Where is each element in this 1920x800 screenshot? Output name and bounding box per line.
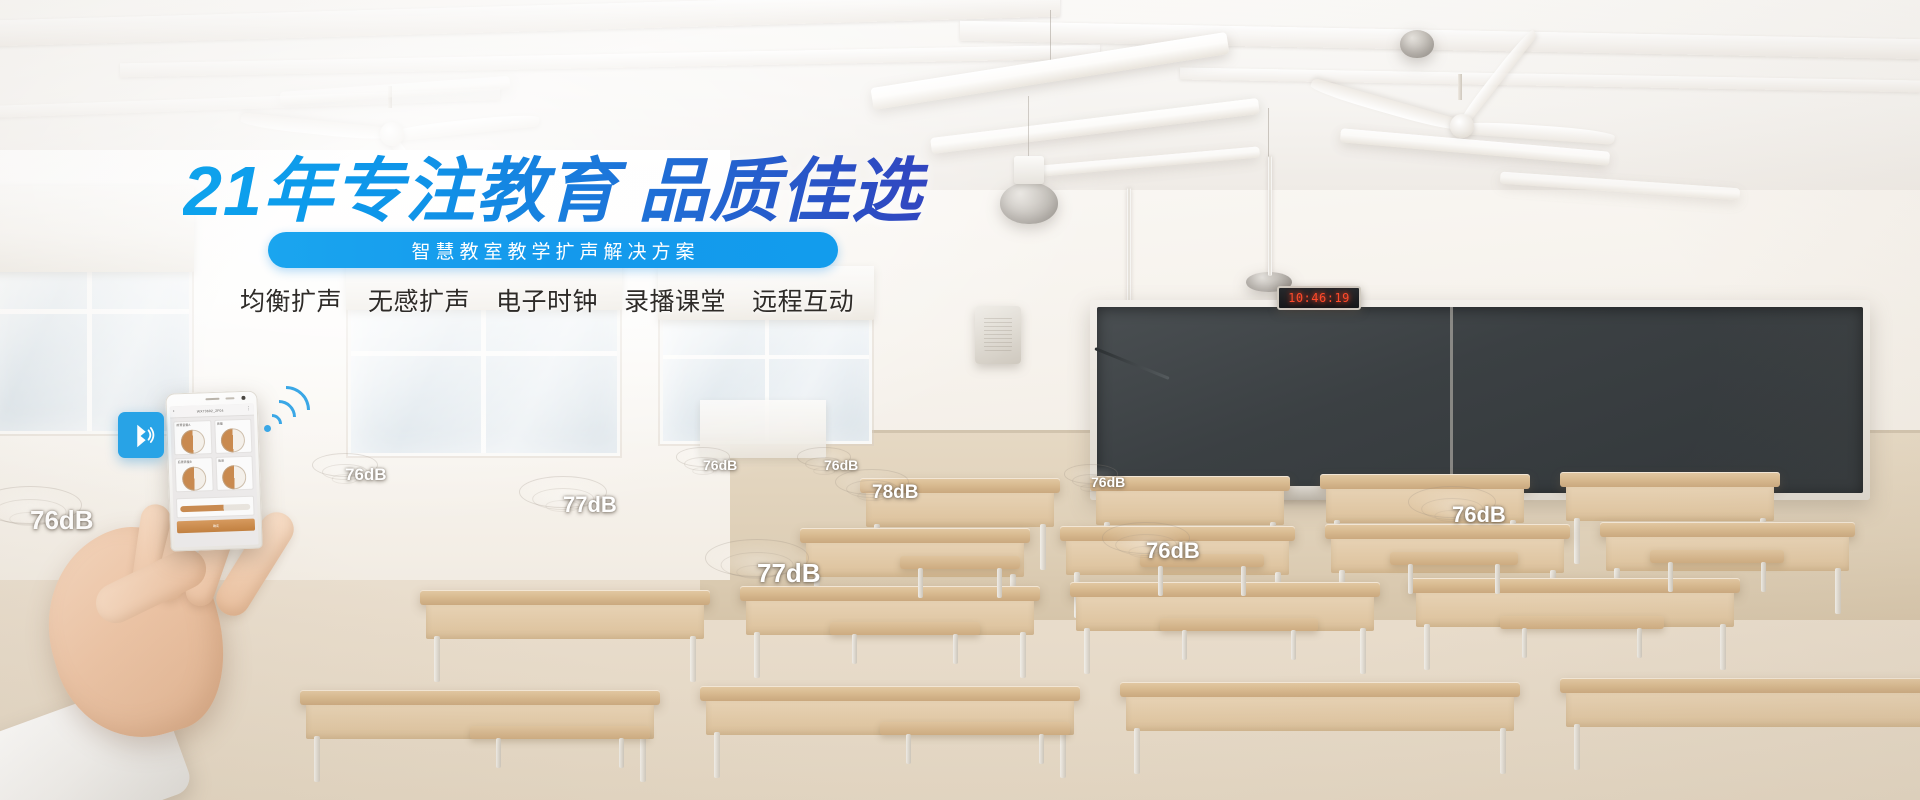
more-vertical-icon[interactable]: ⋮ — [246, 407, 251, 412]
wifi-signal-icon — [262, 380, 316, 434]
feature-item: 远程互动 — [752, 282, 854, 318]
app-title: WX73692_2F04 — [197, 408, 224, 413]
phone-earpiece — [205, 398, 219, 400]
db-reading-label: 76dB — [1146, 538, 1200, 564]
window-blind — [0, 186, 194, 272]
student-chair — [830, 622, 980, 674]
bluetooth-icon — [118, 412, 164, 458]
student-chair — [1390, 552, 1518, 600]
volume-slider-track[interactable] — [180, 504, 250, 512]
control-card[interactable]: 前置音量A — [173, 420, 212, 455]
student-desk — [1560, 678, 1920, 800]
feature-item: 录播课堂 — [624, 282, 726, 318]
volume-slider[interactable] — [176, 496, 255, 519]
smartphone[interactable]: ‹ WX73692_2F04 ⋮ 前置音量A 音量 后置音量B 高音 — [165, 390, 262, 551]
banner-stage: 10:46:19 — [0, 0, 1920, 800]
db-reading-label: 76dB — [703, 457, 737, 473]
mic-pole — [1268, 156, 1272, 276]
student-chair — [900, 556, 1020, 604]
dial-knob-icon[interactable] — [221, 428, 246, 453]
blackboard-divider — [1450, 307, 1453, 493]
control-card[interactable]: 后置音量B — [175, 457, 214, 492]
subtitle-pill-label: 智慧教室教学扩声解决方案 — [406, 237, 699, 264]
page-title: 21年专注教育 品质佳选 — [183, 152, 943, 230]
blackboard — [1090, 300, 1870, 500]
dial-knob-icon[interactable] — [182, 466, 207, 491]
feature-item: 均衡扩声 — [240, 282, 342, 318]
wall-mic-unit — [975, 306, 1021, 364]
phone-front-camera — [241, 396, 245, 400]
feature-item: 无感扩声 — [368, 282, 470, 318]
ceiling-speaker — [1000, 182, 1058, 224]
control-card-label: 音量 — [217, 422, 249, 426]
db-reading-label: 77dB — [563, 492, 617, 518]
control-card[interactable]: 音量 — [214, 419, 253, 454]
control-card-label: 前置音量A — [176, 423, 208, 427]
dial-knob-icon[interactable] — [180, 429, 205, 454]
led-clock: 10:46:19 — [1277, 286, 1361, 310]
confirm-button-label: 确定 — [213, 524, 219, 528]
student-desk — [1120, 682, 1520, 800]
db-reading-label: 77dB — [757, 558, 821, 589]
confirm-button[interactable]: 确定 — [177, 519, 255, 534]
phone-sensor — [225, 397, 234, 399]
dial-knob-icon[interactable] — [222, 465, 247, 490]
feature-list: 均衡扩声无感扩声电子时钟录播课堂远程互动 — [240, 283, 920, 317]
control-card[interactable]: 高音 — [215, 456, 254, 491]
db-reading-label: 76dB — [1091, 474, 1125, 490]
subtitle-pill: 智慧教室教学扩声解决方案 — [268, 232, 838, 268]
student-chair — [880, 722, 1070, 778]
phone-screen[interactable]: ‹ WX73692_2F04 ⋮ 前置音量A 音量 后置音量B 高音 — [170, 404, 259, 548]
db-reading-label: 78dB — [872, 482, 918, 504]
student-chair — [1650, 550, 1784, 598]
feature-item: 电子时钟 — [496, 282, 598, 318]
student-chair — [1500, 616, 1664, 668]
ceiling-sensor — [1400, 30, 1434, 58]
control-card-label: 后置音量B — [178, 460, 210, 464]
student-chair — [1160, 618, 1318, 670]
app-control-grid: 前置音量A 音量 后置音量B 高音 — [170, 416, 257, 496]
control-card-label: 高音 — [218, 459, 250, 463]
led-clock-time: 10:46:19 — [1288, 291, 1350, 305]
db-reading-label: 76dB — [1452, 502, 1506, 528]
student-chair — [470, 726, 650, 782]
chevron-left-icon[interactable]: ‹ — [173, 409, 175, 414]
